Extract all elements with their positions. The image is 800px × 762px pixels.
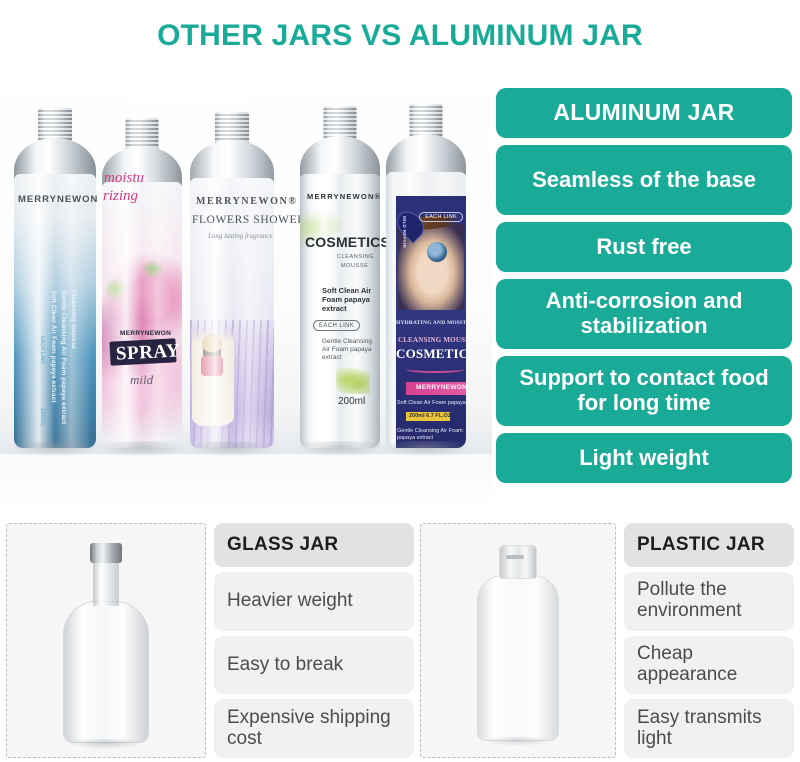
page-header: OTHER JARS VS ALUMINUM JAR xyxy=(0,0,800,72)
bottle-product: COSMETICS xyxy=(305,234,390,250)
bottle-line-2: Gentle Cleansing Air Foam papaya extract xyxy=(60,290,67,424)
glass-bottle-illustration xyxy=(63,543,149,743)
bottle-badge: EACH LINK xyxy=(419,212,463,222)
bottle-desc-2: Gentle Cleansing Air Foam papaya extract xyxy=(322,338,376,362)
bottle-badge: EACH LINK xyxy=(39,336,45,364)
bottle-tagline: mild xyxy=(130,372,153,388)
drop-label: MILD REPAIR xyxy=(402,216,407,248)
bottle-word-2: rizing xyxy=(103,188,138,205)
glass-jar-header: GLASS JAR xyxy=(214,523,414,567)
leaf-graphic xyxy=(142,260,164,278)
bottle-shadow xyxy=(381,441,471,457)
bottle-shadow xyxy=(185,441,279,457)
plastic-bottle-cap xyxy=(499,545,537,579)
bottle-desc-1: Soft Clean Air Foam papaya extract xyxy=(397,400,466,406)
bottle-navy-eye-cosmetics: MILD REPAIR EACH LINK HYDRATING AND MOIS… xyxy=(386,104,466,448)
bottle-sub-1: CLEANSING xyxy=(337,254,374,260)
glass-feature-easy-to-break: Easy to break xyxy=(214,636,414,695)
bottle-headline: HYDRATING AND MOISTURIZING xyxy=(396,320,466,326)
bottle-line-1: Soft Clean Air Foam papaya extract xyxy=(50,290,57,403)
bottle-line-3: Cleansing mousse xyxy=(70,290,77,349)
bottle-label: MILD REPAIR EACH LINK HYDRATING AND MOIS… xyxy=(396,196,466,448)
plastic-jar-labels: PLASTIC JAR Pollute the environment Chea… xyxy=(624,523,794,758)
bottle-product: COSMETICS xyxy=(396,346,466,362)
plastic-jar-photo xyxy=(420,523,616,758)
bottle-brand: MERRYNEWON xyxy=(18,194,98,205)
aluminum-feature-seamless: Seamless of the base xyxy=(496,145,792,215)
aluminum-feature-rust-free: Rust free xyxy=(496,222,792,272)
bottle-volume: 200ml 6.7 FL.OZ xyxy=(409,413,451,419)
plastic-jar-panel: PLASTIC JAR Pollute the environment Chea… xyxy=(420,523,794,758)
glass-bottle-cap xyxy=(90,543,122,563)
bottle-badge: EACH LINK xyxy=(313,320,360,331)
bottle-brand: MERRYNEWON® xyxy=(416,384,466,391)
eye-iris xyxy=(427,242,447,262)
plastic-feature-pollute: Pollute the environment xyxy=(624,572,794,631)
bottle-sub: CLEANSING MOUSSE xyxy=(398,336,466,344)
aluminum-feature-light-weight: Light weight xyxy=(496,433,792,483)
glass-bottle-body xyxy=(63,601,149,743)
metal-sheen xyxy=(102,182,182,448)
glass-feature-expensive-shipping: Expensive shipping cost xyxy=(214,699,414,758)
bottle-desc-1: Soft Clean Air Foam papaya extract xyxy=(322,286,376,313)
glass-feature-heavier-weight: Heavier weight xyxy=(214,572,414,631)
plastic-feature-transmits-light: Easy transmits light xyxy=(624,699,794,758)
aluminum-feature-anti-corrosion: Anti-corrosion and stabilization xyxy=(496,279,792,349)
bottle-product: SPRAY xyxy=(115,340,180,365)
bottle-brand: MERRYNEWON xyxy=(120,330,171,337)
bottle-shadow xyxy=(9,441,101,457)
bottle-volume: 200ML xyxy=(39,408,45,427)
aluminum-jars-photo: MERRYNEWON Soft Clean Air Foam papaya ex… xyxy=(0,66,492,510)
glass-bottle-neck xyxy=(93,562,119,606)
bottle-shadow xyxy=(295,441,385,457)
bottle-silver-cosmetics: MERRYNEWON® COSMETICS CLEANSING MOUSSE S… xyxy=(300,106,380,448)
bottle-pink-berry-spray: moistu rizing MERRYNEWON SPRAY mild xyxy=(102,118,182,448)
bottle-desc-2: Gentle Cleansing Air Foam papaya extract xyxy=(397,428,463,442)
plastic-bottle-shadow xyxy=(484,737,553,746)
leaf-graphic xyxy=(104,278,130,300)
bottle-tagline: Long lasting fragrance xyxy=(208,232,273,240)
bottle-neck xyxy=(410,104,443,138)
plastic-bottle-illustration xyxy=(477,545,559,741)
woman-top xyxy=(201,356,223,376)
bottle-shadow xyxy=(97,441,187,457)
glass-bottle-shadow xyxy=(68,739,144,749)
bottle-brand: MERRYNEWON® xyxy=(196,196,297,207)
woman-head xyxy=(202,334,222,352)
plastic-jar-header: PLASTIC JAR xyxy=(624,523,794,567)
glass-jar-panel: GLASS JAR Heavier weight Easy to break E… xyxy=(6,523,414,758)
bottle-flowers-shower-gel: MERRYNEWON® FLOWERS SHOWER GEL Long last… xyxy=(190,112,274,448)
aluminum-feature-food-contact: Support to contact food for long time xyxy=(496,356,792,426)
swoosh-graphic xyxy=(406,366,464,373)
bottle-sub-2: MOUSSE xyxy=(341,263,368,269)
bottle-neck xyxy=(324,106,357,140)
bottle-word-1: moistu xyxy=(104,170,144,187)
bottle-blue-gradient: MERRYNEWON Soft Clean Air Foam papaya ex… xyxy=(14,108,96,448)
papaya-graphic xyxy=(336,368,370,394)
plastic-feature-cheap-appearance: Cheap appearance xyxy=(624,636,794,695)
bottle-body xyxy=(102,182,182,448)
plastic-bottle-body xyxy=(477,575,559,741)
bottle-neck xyxy=(38,108,72,142)
glass-jar-labels: GLASS JAR Heavier weight Easy to break E… xyxy=(214,523,414,758)
aluminum-jar-header: ALUMINUM JAR xyxy=(496,88,792,138)
bottle-brand: MERRYNEWON® xyxy=(307,192,381,201)
bottle-body: MILD REPAIR EACH LINK HYDRATING AND MOIS… xyxy=(386,172,466,448)
aluminum-feature-list: ALUMINUM JAR Seamless of the base Rust f… xyxy=(496,88,792,483)
bottle-volume: 200ml xyxy=(338,396,365,407)
glass-jar-photo xyxy=(6,523,206,758)
page-title: OTHER JARS VS ALUMINUM JAR xyxy=(157,19,643,53)
